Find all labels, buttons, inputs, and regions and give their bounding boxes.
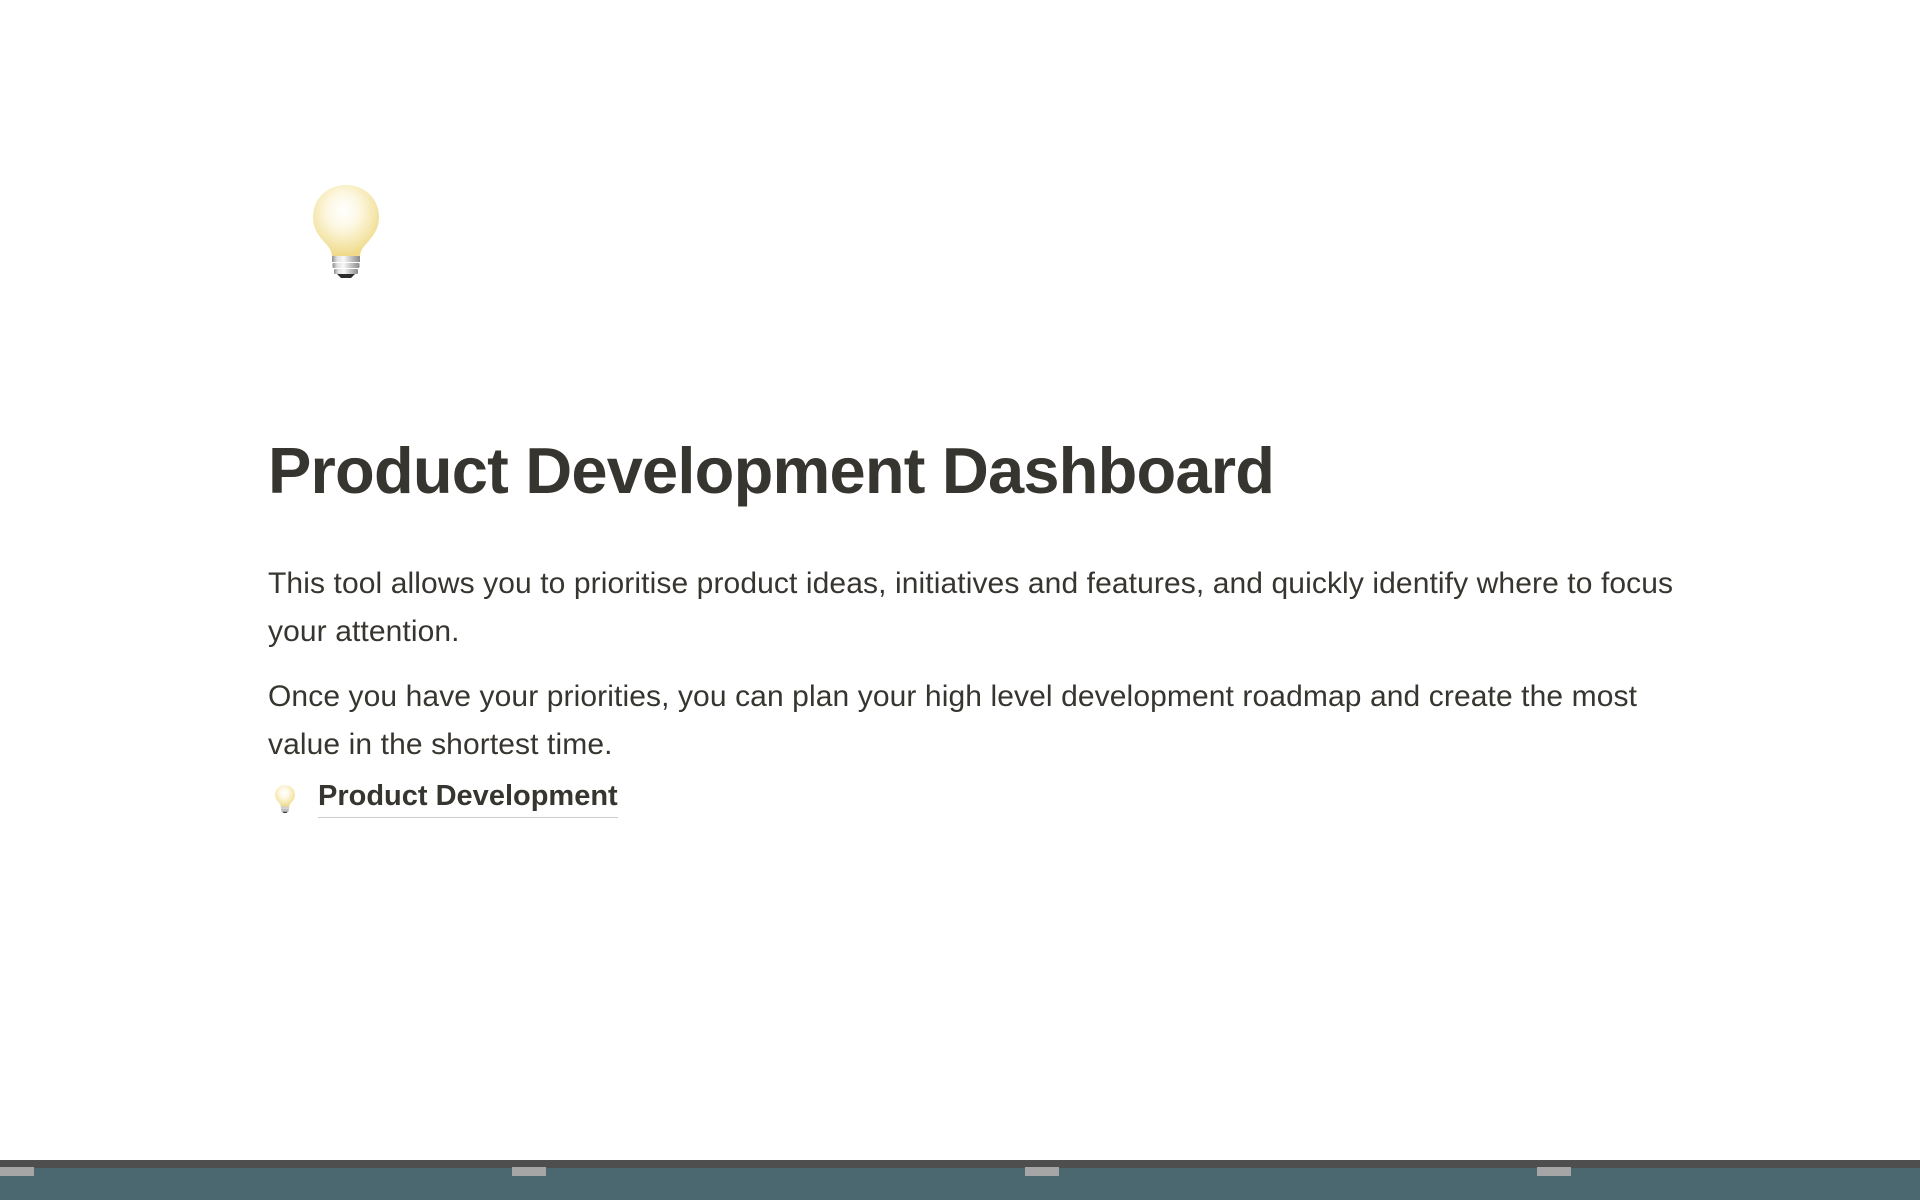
chrome-body — [0, 1168, 1920, 1200]
intro-paragraph-2[interactable]: Once you have your priorities, you can p… — [268, 673, 1688, 769]
chrome-rail — [0, 1160, 1920, 1168]
intro-paragraph-1[interactable]: This tool allows you to prioritise produ… — [268, 560, 1688, 656]
light-bulb-icon[interactable] — [296, 178, 396, 278]
page-canvas: Product Development Dashboard This tool … — [0, 0, 1920, 1160]
chrome-handle[interactable] — [1025, 1167, 1059, 1176]
page-link-product-development[interactable]: Product Development — [268, 778, 618, 818]
bottom-chrome — [0, 1160, 1920, 1200]
app-root: Product Development Dashboard This tool … — [0, 0, 1920, 1200]
chrome-handle[interactable] — [512, 1167, 546, 1176]
light-bulb-icon-small — [268, 781, 302, 815]
page-title[interactable]: Product Development Dashboard — [268, 432, 1274, 510]
page-link-label[interactable]: Product Development — [318, 778, 618, 818]
chrome-handle[interactable] — [1537, 1167, 1571, 1176]
chrome-handle[interactable] — [0, 1167, 34, 1176]
